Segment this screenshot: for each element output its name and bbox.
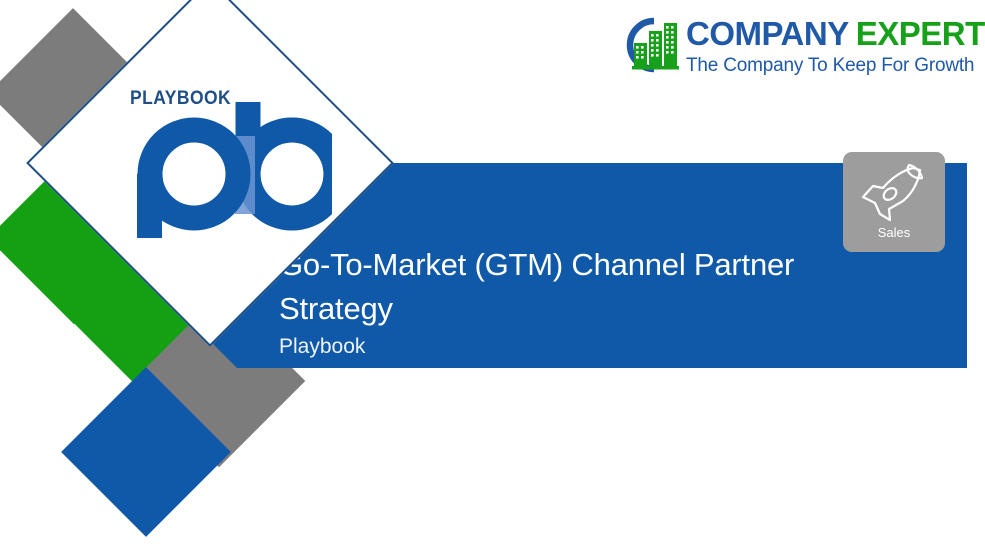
page-title: Go-To-Market (GTM) Channel Partner Strat… [279,243,879,331]
pb-monogram-icon [122,98,332,238]
company-expert-name-part2: EXPERT [856,15,985,52]
company-expert-logo: COMPANYEXPERT The Company To Keep For Gr… [617,14,962,80]
company-expert-name: COMPANYEXPERT [686,14,985,54]
company-expert-buildings-icon [617,15,683,75]
company-expert-text: COMPANYEXPERT The Company To Keep For Gr… [686,14,985,78]
playbook-logo: PLAYBOOK [122,88,332,238]
slide-canvas: Go-To-Market (GTM) Channel Partner Strat… [0,0,985,552]
title-banner-content: Go-To-Market (GTM) Channel Partner Strat… [279,243,879,359]
sales-badge-label: Sales [843,225,945,240]
company-expert-name-part1: COMPANY [686,15,849,52]
rocket-icon [857,162,931,228]
company-expert-tagline: The Company To Keep For Growth [686,54,985,78]
sales-badge[interactable]: Sales [843,152,945,252]
page-subtitle: Playbook [279,335,879,359]
